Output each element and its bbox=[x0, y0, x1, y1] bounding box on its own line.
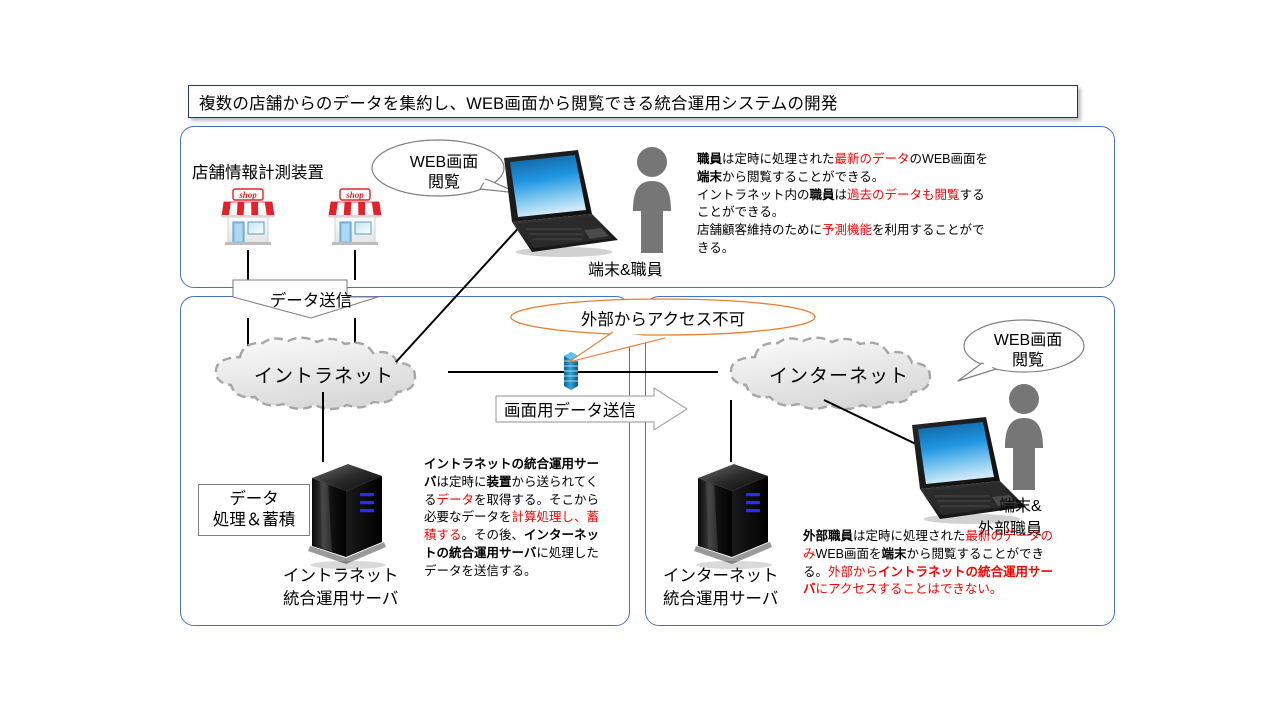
text-run: る bbox=[424, 493, 437, 507]
firewall-callout-tail bbox=[555, 330, 675, 370]
text-run: を取得する。そこから bbox=[474, 493, 599, 507]
text-run: 積する bbox=[424, 528, 462, 542]
text-run: み bbox=[803, 547, 816, 561]
text-run: データを送信する。 bbox=[424, 564, 537, 578]
paragraph-line: イントラネットの統合運用サー bbox=[424, 456, 619, 474]
web-bubble-line1: WEB画面 bbox=[410, 153, 478, 173]
text-run: 予測機能 bbox=[822, 223, 872, 237]
diagram-title-box: 複数の店舗からのデータを集約し、WEB画面から閲覧できる統合運用システムの開発 bbox=[188, 85, 1078, 118]
text-run: 装置 bbox=[487, 475, 512, 489]
text-run: は定時に処理された bbox=[853, 529, 966, 543]
text-run: は定時に bbox=[437, 475, 487, 489]
web-bubble-line2: 閲覧 bbox=[428, 173, 460, 193]
svg-text:shop: shop bbox=[345, 190, 364, 200]
data-send-arrow-label: データ送信 bbox=[270, 287, 353, 311]
external-staff-description: 外部職員は定時に処理された最新のデータのみWEB画面を端末から閲覧することができ… bbox=[803, 528, 1115, 599]
text-run: WEB画面を bbox=[816, 547, 882, 561]
text-run: 計算処理し、蓄 bbox=[512, 510, 600, 524]
wire-cloud-to-intranet-server bbox=[322, 392, 324, 462]
intranet-server-label-line1: イントラネット bbox=[283, 566, 399, 587]
text-run: 最新のデータ bbox=[835, 152, 910, 166]
web-bubble-ext-line2: 閲覧 bbox=[1012, 351, 1044, 371]
internet-server-label-line2: 統合運用サーバ bbox=[663, 589, 778, 610]
text-run: から閲覧することができる。 bbox=[722, 170, 884, 184]
paragraph-line: データを送信する。 bbox=[424, 563, 619, 581]
wire-shop1-down bbox=[247, 250, 249, 280]
intranet-server-description: イントラネットの統合運用サーバは定時に装置から送られてくるデータを取得する。そこ… bbox=[424, 456, 619, 580]
screen-data-send-label: 画面用データ送信 bbox=[504, 397, 636, 421]
diagram-title-text: 複数の店舗からのデータを集約し、WEB画面から閲覧できる統合運用システムの開発 bbox=[189, 90, 838, 114]
data-box-line2: 処理＆蓄積 bbox=[213, 510, 296, 531]
data-processing-box: データ 処理＆蓄積 bbox=[198, 484, 310, 536]
svg-text:shop: shop bbox=[238, 190, 257, 200]
text-run: 最新のデータの bbox=[966, 529, 1054, 543]
paragraph-line: 積する。その後、インターネッ bbox=[424, 527, 619, 545]
firewall-callout-label: 外部からアクセス不可 bbox=[581, 306, 745, 330]
paragraph-line: 端末から閲覧することができる。 bbox=[697, 169, 1097, 187]
text-run: する bbox=[960, 188, 985, 202]
wire-internet-to-server bbox=[730, 400, 732, 462]
intranet-server-label-line2: 統合運用サーバ bbox=[283, 589, 398, 610]
paragraph-lines-internet: 外部職員は定時に処理された最新のデータのみWEB画面を端末から閲覧することができ… bbox=[803, 528, 1115, 599]
paragraph-line: バにアクセスすることはできない。 bbox=[803, 581, 1115, 599]
paragraph-line: トの統合運用サーバに処理した bbox=[424, 545, 619, 563]
text-run: 職員 bbox=[697, 152, 722, 166]
text-run: イントラネットの統合運用サー bbox=[424, 457, 599, 471]
web-view-bubble-internet: WEB画面 閲覧 bbox=[956, 317, 1088, 383]
text-run: 。その後、 bbox=[462, 528, 525, 542]
server-tower-icon bbox=[688, 460, 774, 570]
text-run: から送られてく bbox=[512, 475, 599, 489]
text-run: イントラネット内の bbox=[697, 188, 810, 202]
wire-shop2-down bbox=[354, 250, 356, 280]
data-box-line1: データ bbox=[229, 489, 279, 510]
text-run: 過去のデータも閲覧 bbox=[847, 188, 960, 202]
screen-data-send-arrow: 画面用データ送信 bbox=[494, 386, 690, 432]
laptop-icon bbox=[492, 148, 622, 258]
text-run: 必要なデータを bbox=[424, 510, 512, 524]
text-run: に処理した bbox=[536, 546, 599, 560]
diagram-canvas: 複数の店舗からのデータを集約し、WEB画面から閲覧できる統合運用システムの開発 … bbox=[0, 0, 1280, 720]
paragraph-line: 必要なデータを計算処理し、蓄 bbox=[424, 509, 619, 527]
terminal-staff-label: 端末&職員 bbox=[588, 261, 663, 281]
text-run: る。 bbox=[803, 565, 828, 579]
paragraph-line: る。外部からイントラネットの統合運用サー bbox=[803, 564, 1115, 582]
text-run: 端末 bbox=[697, 170, 722, 184]
text-run: データ bbox=[437, 493, 475, 507]
paragraph-line: バは定時に装置から送られてく bbox=[424, 474, 619, 492]
text-run: 職員 bbox=[810, 188, 835, 202]
text-run: イントラネットの統合運用サー bbox=[878, 565, 1053, 579]
store-device-label: 店舗情報計測装置 bbox=[192, 163, 324, 184]
text-run: インターネッ bbox=[524, 528, 599, 542]
text-run: は定時に処理された bbox=[722, 152, 835, 166]
text-run: にアクセスすることはできない。 bbox=[816, 582, 1003, 596]
text-run: トの統合運用サーバ bbox=[424, 546, 536, 560]
wire-firewall-to-internet bbox=[578, 371, 718, 373]
paragraph-line: ことができる。 bbox=[697, 204, 1097, 222]
intranet-staff-description: 職員は定時に処理された最新のデータのWEB画面を端末から閲覧することができる。イ… bbox=[697, 151, 1097, 258]
person-icon bbox=[628, 145, 676, 260]
paragraph-line: きる。 bbox=[697, 240, 1097, 258]
person-icon bbox=[1000, 382, 1048, 497]
paragraph-line: みWEB画面を端末から閲覧することができ bbox=[803, 546, 1115, 564]
external-terminal-label-line1: 端末& bbox=[999, 497, 1042, 517]
text-run: を利用することがで bbox=[872, 223, 985, 237]
text-run: 端末 bbox=[882, 547, 907, 561]
text-run: ことができる。 bbox=[697, 205, 784, 219]
wire-intranet-to-firewall bbox=[448, 371, 568, 373]
shop-icon: shop bbox=[216, 186, 280, 250]
paragraph-lines-top: 職員は定時に処理された最新のデータのWEB画面を端末から閲覧することができる。イ… bbox=[697, 151, 1097, 258]
text-run: きる。 bbox=[697, 241, 734, 255]
paragraph-line: るデータを取得する。そこから bbox=[424, 492, 619, 510]
internet-server-label-line1: インターネット bbox=[663, 566, 779, 587]
paragraph-line: 外部職員は定時に処理された最新のデータの bbox=[803, 528, 1115, 546]
text-run: 店舗顧客維持のために bbox=[697, 223, 822, 237]
paragraph-line: 職員は定時に処理された最新のデータのWEB画面を bbox=[697, 151, 1097, 169]
text-run: 外部職員 bbox=[803, 529, 853, 543]
server-tower-icon bbox=[302, 460, 388, 570]
text-run: バ bbox=[803, 582, 816, 596]
text-run: 外部から bbox=[828, 565, 878, 579]
text-run: バ bbox=[424, 475, 437, 489]
text-run: のWEB画面を bbox=[910, 152, 988, 166]
paragraph-lines-intranet: イントラネットの統合運用サーバは定時に装置から送られてくるデータを取得する。そこ… bbox=[424, 456, 619, 580]
paragraph-line: イントラネット内の職員は過去のデータも閲覧する bbox=[697, 187, 1097, 205]
web-bubble-ext-line1: WEB画面 bbox=[994, 331, 1062, 351]
text-run: は bbox=[835, 188, 848, 202]
paragraph-line: 店舗顧客維持のために予測機能を利用することがで bbox=[697, 222, 1097, 240]
text-run: から閲覧することができ bbox=[907, 547, 1045, 561]
